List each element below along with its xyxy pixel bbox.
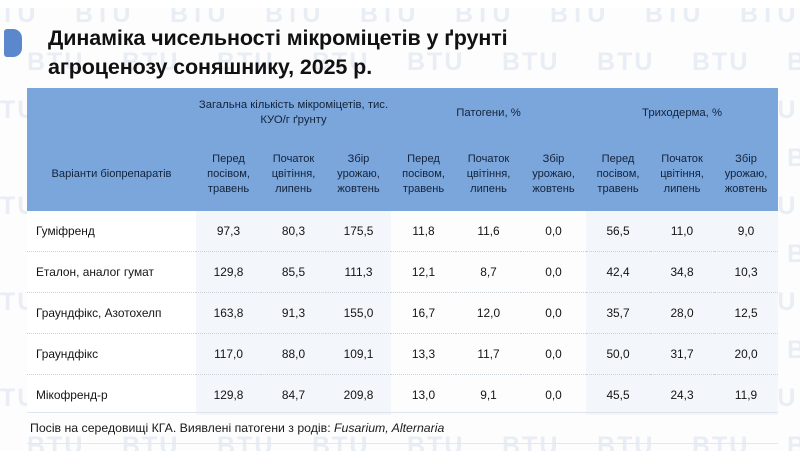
sub-l2: урожаю, [714,167,778,182]
micromycetes-table: Загальна кількість мікроміцетів, тис. КУ… [27,88,778,415]
sub-l2: урожаю, [326,167,391,182]
sub-l1: Збір [714,152,778,167]
group-header-trichoderma: Триходерма, % [586,88,778,138]
sub-l1: Перед [391,152,456,167]
cell-value: 13,0 [391,375,456,416]
cell-value: 12,0 [456,293,521,334]
cell-value: 11,8 [391,211,456,252]
cell-value: 34,8 [650,252,714,293]
cell-value: 11,7 [456,334,521,375]
table-head: Загальна кількість мікроміцетів, тис. КУ… [27,88,778,211]
cell-value: 10,3 [714,252,778,293]
cell-value: 163,8 [196,293,261,334]
column-header-pathogens-harvest: Збір урожаю, жовтень [521,138,586,211]
cell-value: 0,0 [521,375,586,416]
sub-l3: травень [391,182,456,197]
group-trichoderma-label: Триходерма, % [642,107,722,119]
row-label: Мікофренд-р [27,375,196,416]
title-line-1: Динаміка чисельності мікроміцетів у ґрун… [48,24,668,53]
cell-value: 56,5 [586,211,650,252]
row-label: Еталон, аналог гумат [27,252,196,293]
cell-value: 0,0 [521,334,586,375]
cell-value: 0,0 [521,252,586,293]
table-row: Гуміфренд97,380,3175,511,811,60,056,511,… [27,211,778,252]
cell-value: 175,5 [326,211,391,252]
sub-l2: цвітіння, [456,167,521,182]
cell-value: 97,3 [196,211,261,252]
group-pathogens-label: Патогени, % [456,107,521,119]
sub-l1: Початок [650,152,714,167]
accent-tab-shape [4,29,22,57]
sub-l2: урожаю, [521,167,586,182]
sub-l2: посівом, [196,167,261,182]
sub-l3: жовтень [521,182,586,197]
cell-value: 9,0 [714,211,778,252]
cell-value: 0,0 [521,211,586,252]
cell-value: 13,3 [391,334,456,375]
group-header-corner [27,88,196,138]
cell-value: 9,1 [456,375,521,416]
cell-value: 155,0 [326,293,391,334]
cell-value: 31,7 [650,334,714,375]
cell-value: 28,0 [650,293,714,334]
cell-value: 0,0 [521,293,586,334]
cell-value: 117,0 [196,334,261,375]
cell-value: 12,5 [714,293,778,334]
group-header-row: Загальна кількість мікроміцетів, тис. КУ… [27,88,778,138]
cell-value: 24,3 [650,375,714,416]
cell-value: 11,6 [456,211,521,252]
row-label: Граундфікс [27,334,196,375]
sub-l1: Початок [456,152,521,167]
column-header-variants: Варіанти біопрепаратів [27,138,196,211]
sub-header-row: Варіанти біопрепаратів Перед посівом, тр… [27,138,778,211]
sub-l1: Перед [586,152,650,167]
sub-l2: посівом, [586,167,650,182]
cell-value: 11,9 [714,375,778,416]
row-label: Гуміфренд [27,211,196,252]
column-header-pathogens-flowering: Початок цвітіння, липень [456,138,521,211]
cell-value: 12,1 [391,252,456,293]
column-header-trichoderma-harvest: Збір урожаю, жовтень [714,138,778,211]
sub-l3: липень [650,182,714,197]
cell-value: 35,7 [586,293,650,334]
sub-l2: цвітіння, [261,167,326,182]
column-header-pathogens-presow: Перед посівом, травень [391,138,456,211]
footnote: Посів на середовищі КГА. Виявлені патоге… [30,421,444,435]
cell-value: 109,1 [326,334,391,375]
sub-l3: жовтень [326,182,391,197]
sub-l2: цвітіння, [650,167,714,182]
cell-value: 16,7 [391,293,456,334]
cell-value: 42,4 [586,252,650,293]
table-row: Граундфікс, Азотохелп163,891,3155,016,71… [27,293,778,334]
cell-value: 85,5 [261,252,326,293]
column-header-total-harvest: Збір урожаю, жовтень [326,138,391,211]
sub-l3: травень [196,182,261,197]
cell-value: 45,5 [586,375,650,416]
table-body: Гуміфренд97,380,3175,511,811,60,056,511,… [27,211,778,415]
cell-value: 20,0 [714,334,778,375]
sub-l1: Збір [326,152,391,167]
table-bottom-divider [27,412,778,413]
cell-value: 8,7 [456,252,521,293]
cell-value: 111,3 [326,252,391,293]
cell-value: 11,0 [650,211,714,252]
table-row: Граундфікс117,088,0109,113,311,70,050,03… [27,334,778,375]
cell-value: 88,0 [261,334,326,375]
group-header-pathogens: Патогени, % [391,88,586,138]
group-total-line1: Загальна кількість мікроміцетів, [199,99,365,111]
cell-value: 80,3 [261,211,326,252]
sub-l2: посівом, [391,167,456,182]
top-white-strip [0,0,800,8]
title-line-2: агроценозу соняшнику, 2025 р. [48,53,668,82]
sub-l3: липень [261,182,326,197]
cell-value: 129,8 [196,252,261,293]
column-header-trichoderma-presow: Перед посівом, травень [586,138,650,211]
column-header-trichoderma-flowering: Початок цвітіння, липень [650,138,714,211]
sub-l3: травень [586,182,650,197]
cell-value: 209,8 [326,375,391,416]
column-header-total-flowering: Початок цвітіння, липень [261,138,326,211]
table-row: Мікофренд-р129,884,7209,813,09,10,045,52… [27,375,778,416]
data-table-container: Загальна кількість мікроміцетів, тис. КУ… [27,88,778,415]
cell-value: 84,7 [261,375,326,416]
sub-l1: Перед [196,152,261,167]
group-header-total: Загальна кількість мікроміцетів, тис. КУ… [196,88,391,138]
footnote-genera: Fusarium, Alternaria [334,421,444,435]
slide-canvas: BTUBTUBTUBTUBTUBTUBTUBTUBTUBTUBTUBTUBTUB… [0,0,800,451]
footnote-divider [27,443,778,444]
sub-l1: Початок [261,152,326,167]
sub-l3: липень [456,182,521,197]
cell-value: 91,3 [261,293,326,334]
slide-title: Динаміка чисельності мікроміцетів у ґрун… [48,24,668,82]
column-header-total-presow: Перед посівом, травень [196,138,261,211]
table-row: Еталон, аналог гумат129,885,5111,312,18,… [27,252,778,293]
sub-l1: Збір [521,152,586,167]
cell-value: 50,0 [586,334,650,375]
sub-l3: жовтень [714,182,778,197]
cell-value: 129,8 [196,375,261,416]
row-label: Граундфікс, Азотохелп [27,293,196,334]
footnote-text: Посів на середовищі КГА. Виявлені патоге… [30,421,334,435]
